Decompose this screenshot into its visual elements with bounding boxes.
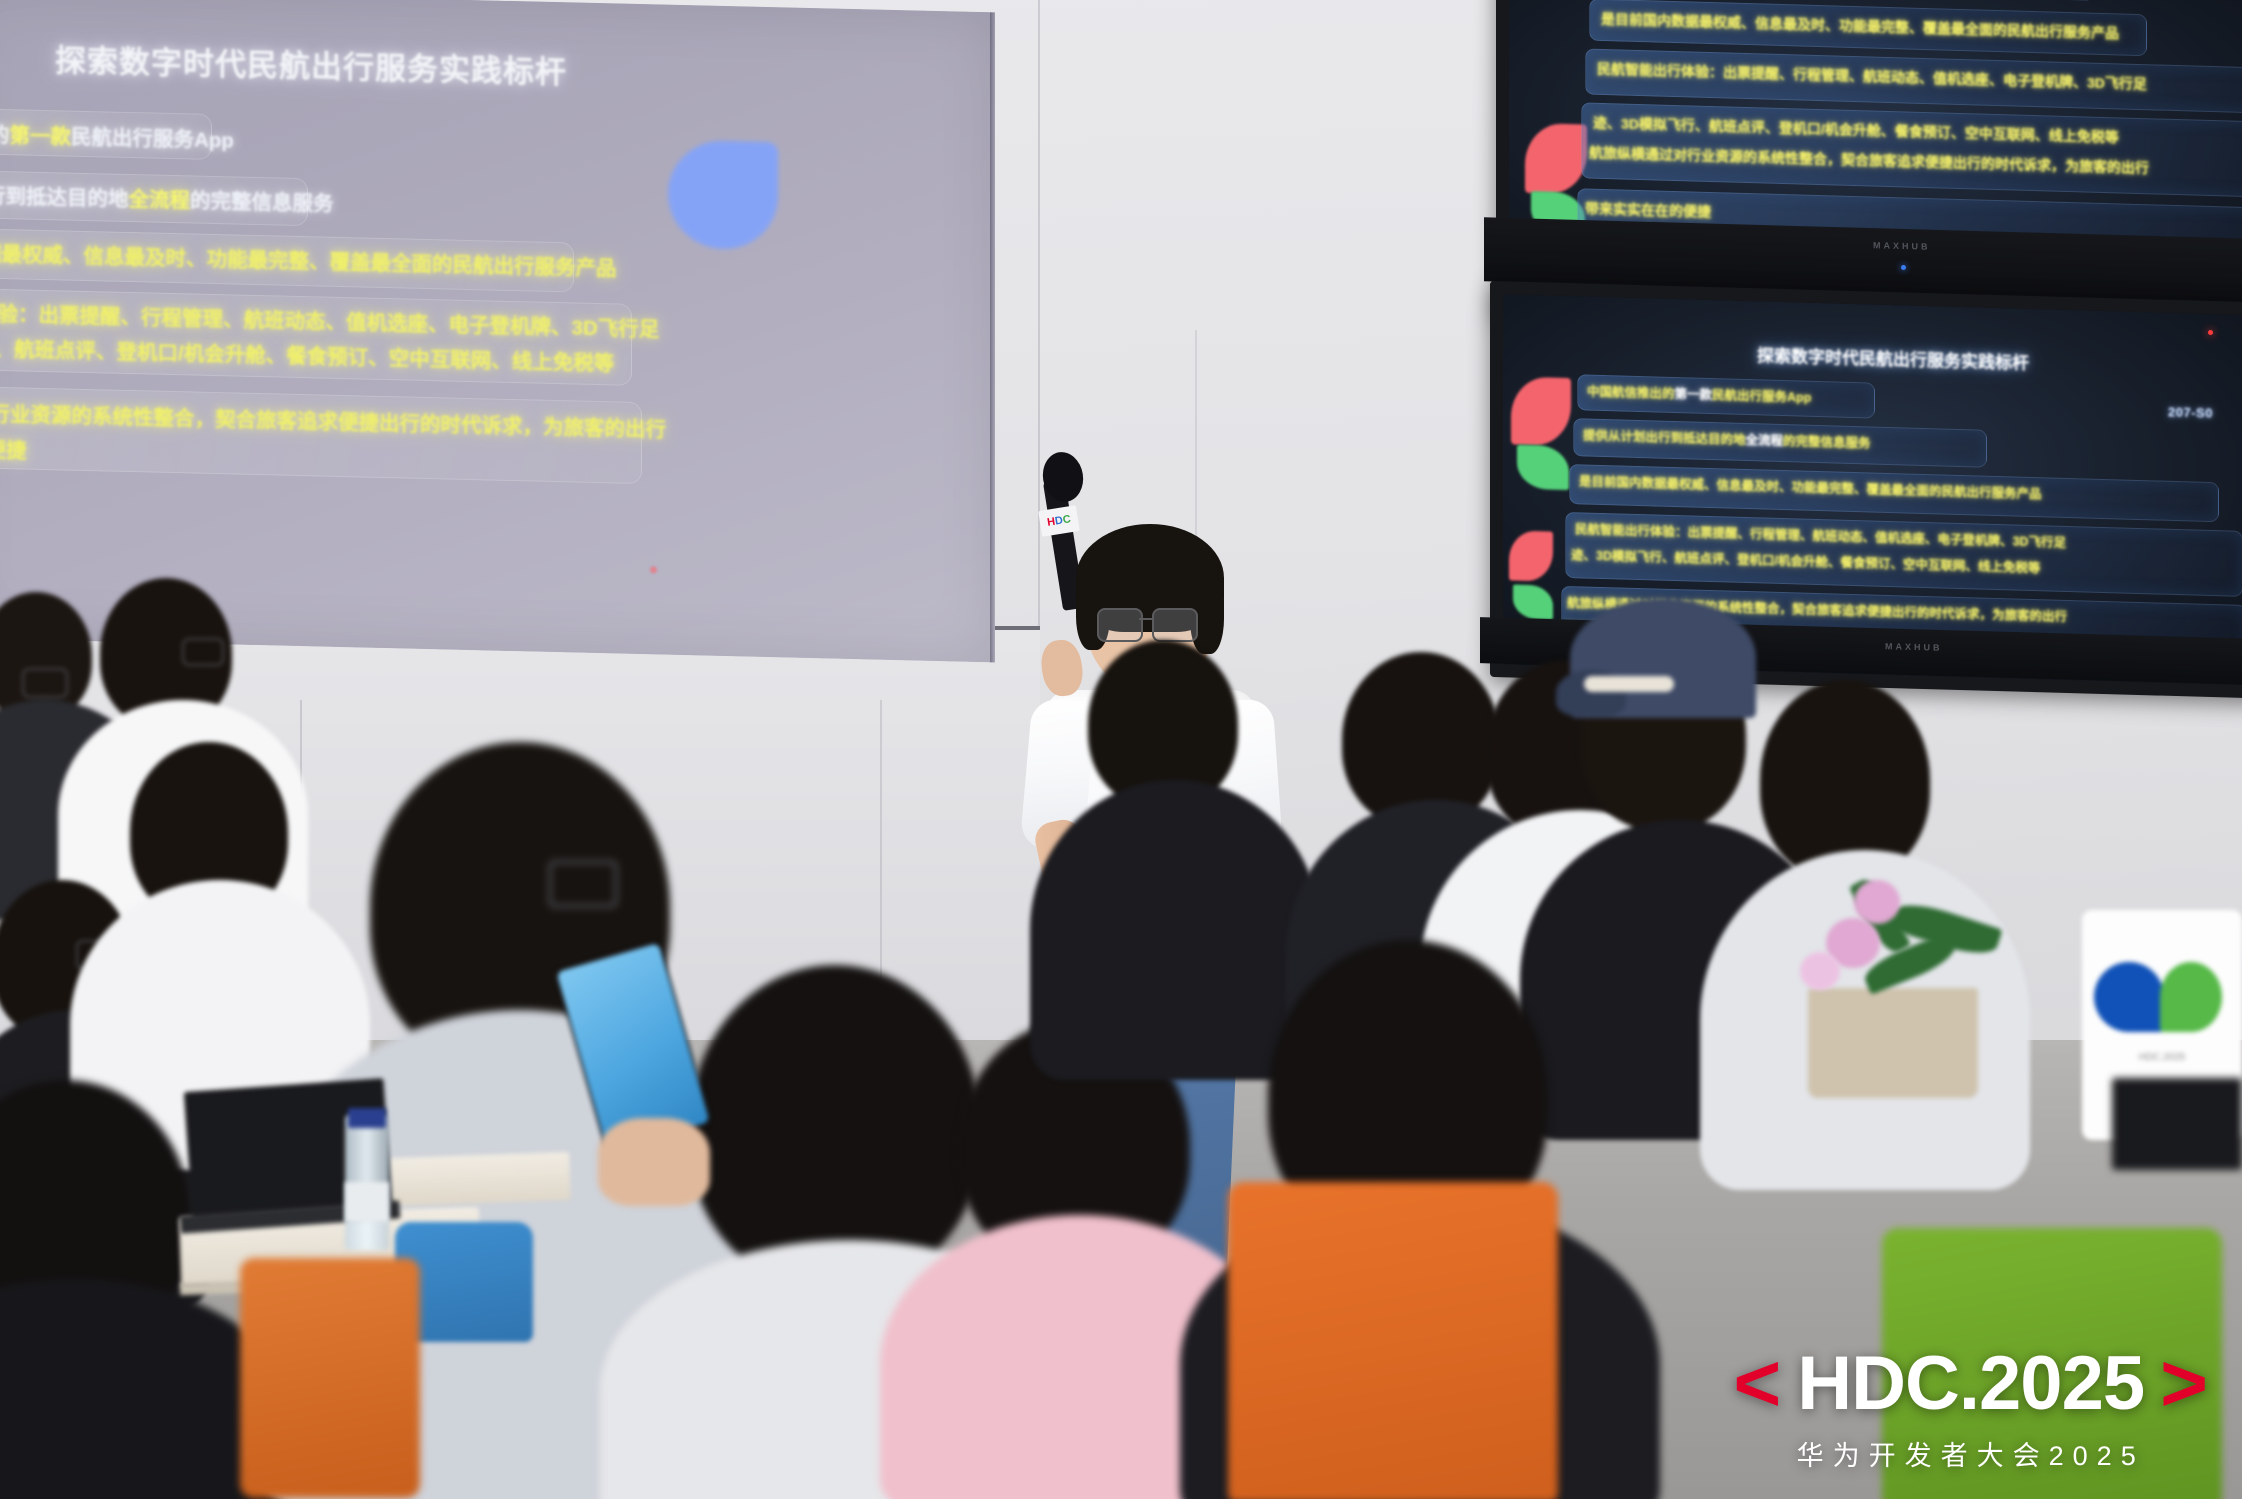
audience-head — [690, 965, 980, 1285]
audience-glasses — [548, 860, 618, 908]
monitor-bottom-status-led — [2208, 330, 2213, 335]
audience-glasses — [182, 638, 224, 666]
audience-head — [1760, 680, 1930, 880]
conference-room-photo: 探索数字时代民航出行服务实践标杆 推出的第一款民航出行服务App 划出行到抵达目… — [0, 0, 2242, 1499]
watermark-title: HDC.2025 — [1797, 1350, 2144, 1418]
laptop-right[interactable] — [2112, 1078, 2242, 1170]
water-bottle-cap — [348, 1108, 386, 1128]
decorative-leaf-green-bottom — [1517, 445, 1569, 490]
hdc-logo-green-mark — [2160, 962, 2222, 1032]
hdc-watermark: < HDC.2025 > 华为开发者大会2025 — [1733, 1350, 2208, 1473]
mb-b1-pre: 中国航信推出的 — [1587, 385, 1675, 401]
desk-left-2 — [389, 1152, 571, 1206]
projection-slide-title: 探索数字时代民航出行服务实践标杆 — [55, 35, 675, 95]
mb-b2-white: 全流程 — [1746, 433, 1784, 448]
bullet-2-tail: 的完整信息服务 — [190, 189, 334, 215]
orchid-flower-2 — [1854, 880, 1900, 924]
mb-b3-post: 的民航出行服务产品 — [1929, 484, 2042, 501]
bullet-4-lead: 出行体验： — [0, 301, 39, 326]
monitor-bottom-room-code: 207-S0 — [2168, 404, 2213, 420]
watermark-chevron-right: > — [2160, 1351, 2208, 1417]
wall-seam-vertical-1 — [1038, 0, 1040, 700]
bullet-3-highlight: 数据最权威、信息最及时、功能最完整、覆盖最全面 — [0, 242, 432, 276]
monitor-bottom-brand: MAXHUB — [1885, 641, 1943, 653]
bullet-7-text: 在在的便捷 — [0, 437, 27, 462]
decorative-dot-pink — [650, 566, 657, 573]
mb-b2-pre: 提供从计划出行到抵达目的地 — [1583, 428, 1746, 447]
presenter-glasses-bridge — [1139, 618, 1152, 620]
mb-b2-post: 的完整信息服务 — [1783, 434, 1871, 450]
projection-screen: 探索数字时代民航出行服务实践标杆 推出的第一款民航出行服务App 划出行到抵达目… — [0, 0, 995, 662]
presenter-glasses-right-lens — [1152, 608, 1198, 642]
projection-bullet-7: 在在的便捷 — [0, 433, 27, 467]
mb-b3-pre: 是目前国内 — [1579, 474, 1642, 490]
decorative-leaf-pink-top — [1525, 123, 1587, 195]
hdc-logo-blue-mark — [2094, 962, 2164, 1032]
bullet-2-lead: 划出行到抵达目的地 — [0, 184, 129, 211]
audience-glasses-left — [22, 668, 68, 698]
monitor-bottom-slide-title: 探索数字时代民航出行服务实践标杆 — [1663, 339, 2123, 377]
monitor-top-power-led — [1901, 265, 1906, 270]
decorative-blob-blue — [668, 140, 778, 251]
mic-flag-logo-text: HDC — [1046, 513, 1071, 529]
cap-strap — [1584, 676, 1674, 692]
audience-shoulders — [1030, 780, 1320, 1080]
audience-phone-hand — [598, 1118, 710, 1206]
decorative-leaf-green-bottom-2 — [1513, 584, 1553, 619]
bullet-3-tail: 的民航出行服务产品 — [432, 253, 617, 280]
chair-orange-small[interactable] — [240, 1258, 420, 1498]
bullet-1-highlight: 第一款 — [10, 124, 72, 148]
water-bottle-label — [345, 1182, 389, 1222]
hdc-board-caption: HDC.2025 — [2082, 1052, 2242, 1063]
decorative-leaf-pink-bottom-2 — [1509, 530, 1553, 581]
mb-b1-post: 民航出行服务App — [1712, 388, 1811, 405]
presenter-glasses-left-lens — [1097, 608, 1143, 642]
flower-pot — [1808, 988, 1978, 1098]
monitor-top-brand: MAXHUB — [1873, 240, 1931, 252]
projection-screen-right-edge — [990, 12, 995, 662]
watermark-subtitle: 华为开发者大会2025 — [1733, 1434, 2208, 1473]
bullet-1-lead: 推出的 — [0, 123, 10, 147]
bullet-1-tail: 民航出行服务App — [71, 126, 234, 153]
monitor-top-bullet-6: 带来实实在在的便捷 — [1585, 199, 1711, 224]
orchid-flower-3 — [1800, 952, 1840, 990]
mb-b1-white: 第一款 — [1675, 387, 1713, 402]
decorative-leaf-pink-bottom — [1511, 376, 1571, 446]
bullet-2-highlight: 全流程 — [129, 188, 191, 212]
watermark-chevron-left: < — [1733, 1351, 1781, 1417]
projection-bullet-1: 推出的第一款民航出行服务App — [0, 119, 234, 157]
